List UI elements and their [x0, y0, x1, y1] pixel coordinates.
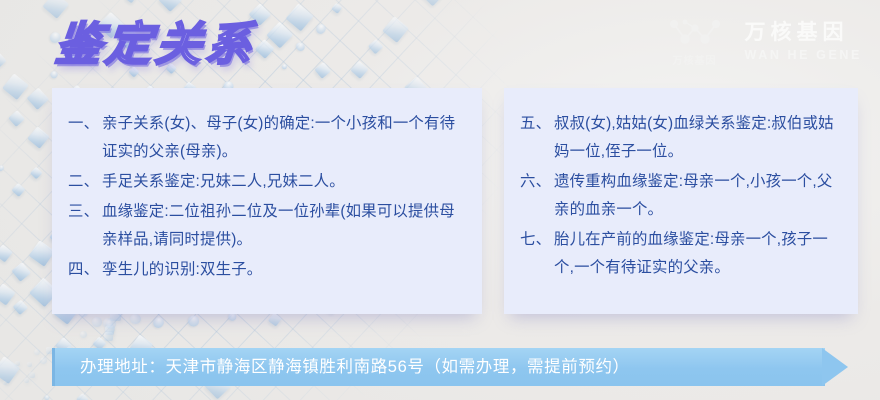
list-item: 六、遗传重构血缘鉴定:母亲一个,小孩一个,父亲的血亲一个。 — [520, 168, 840, 224]
list-item: 七、胎儿在产前的血缘鉴定:母亲一个,孩子一个,一个有待证实的父亲。 — [520, 226, 840, 282]
list-item-text: 血缘鉴定:二位祖孙二位及一位孙辈(如果可以提供母亲样品,请同时提供)。 — [102, 198, 464, 254]
list-item-text: 手足关系鉴定:兄妹二人,兄妹二人。 — [102, 168, 464, 196]
list-item-text: 叔叔(女),姑姑(女)血绿关系鉴定:叔伯或姑妈一位,侄子一位。 — [554, 110, 840, 166]
page-title: 鉴定关系 — [53, 8, 260, 74]
brand-name-en: WAN HE GENE — [745, 48, 863, 62]
list-item-text: 亲子关系(女)、母子(女)的确定:一个小孩和一个有待证实的父亲(母亲)。 — [102, 110, 464, 166]
list-item-text: 孪生儿的识别:双生子。 — [102, 256, 464, 284]
list-item: 一、亲子关系(女)、母子(女)的确定:一个小孩和一个有待证实的父亲(母亲)。 — [68, 110, 464, 166]
list-item-text: 遗传重构血缘鉴定:母亲一个,小孩一个,父亲的血亲一个。 — [554, 168, 840, 224]
address-banner: 办理地址：天津市静海区静海镇胜利南路56号（如需办理，需提前预约） — [52, 348, 858, 386]
panel-right: 五、叔叔(女),姑姑(女)血绿关系鉴定:叔伯或姑妈一位,侄子一位。六、遗传重构血… — [504, 88, 858, 314]
brand-name-cn: 万核基因 — [745, 21, 863, 45]
list-item: 五、叔叔(女),姑姑(女)血绿关系鉴定:叔伯或姑妈一位,侄子一位。 — [520, 110, 840, 166]
list-item: 三、血缘鉴定:二位祖孙二位及一位孙辈(如果可以提供母亲样品,请同时提供)。 — [68, 198, 464, 254]
brand-logo: 万核基因 万核基因 WAN HE GENE — [667, 16, 863, 67]
list-item-number: 五、 — [520, 110, 554, 166]
list-item: 四、孪生儿的识别:双生子。 — [68, 256, 464, 284]
molecule-network-icon — [667, 16, 723, 48]
list-item: 二、手足关系鉴定:兄妹二人,兄妹二人。 — [68, 168, 464, 196]
address-banner-arrow-icon — [822, 348, 848, 386]
poster-canvas: 鉴定关系 万核基因 — [0, 0, 880, 400]
list-item-number: 四、 — [68, 256, 102, 284]
logo-mark-label: 万核基因 — [673, 52, 717, 67]
brand-text: 万核基因 WAN HE GENE — [745, 21, 863, 61]
list-item-number: 七、 — [520, 226, 554, 282]
list-item-number: 一、 — [68, 110, 102, 166]
list-item-text: 胎儿在产前的血缘鉴定:母亲一个,孩子一个,一个有待证实的父亲。 — [554, 226, 840, 282]
logo-mark: 万核基因 — [667, 16, 723, 67]
cube-cluster — [270, 0, 723, 102]
list-item-number: 三、 — [68, 198, 102, 254]
list-item-number: 二、 — [68, 168, 102, 196]
content-panels: 一、亲子关系(女)、母子(女)的确定:一个小孩和一个有待证实的父亲(母亲)。二、… — [52, 88, 858, 314]
panel-left: 一、亲子关系(女)、母子(女)的确定:一个小孩和一个有待证实的父亲(母亲)。二、… — [52, 88, 482, 314]
list-item-number: 六、 — [520, 168, 554, 224]
address-banner-label: 办理地址：天津市静海区静海镇胜利南路56号（如需办理，需提前预约） — [80, 348, 630, 386]
